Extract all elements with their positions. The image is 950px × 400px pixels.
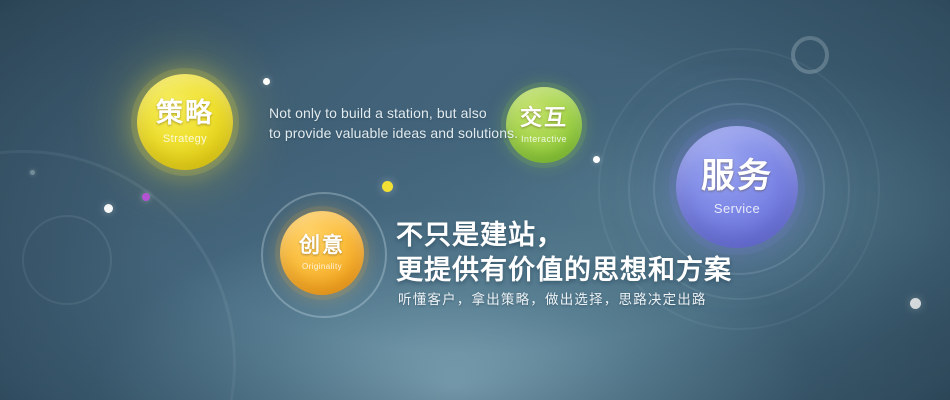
bubble-strategy-cn-label: 策略 bbox=[156, 100, 214, 127]
intro-paragraph: Not only to build a station, but also to… bbox=[269, 103, 518, 144]
intro-line-1: Not only to build a station, but also bbox=[269, 103, 518, 123]
bubble-interactive-cn-label: 交互 bbox=[520, 107, 568, 129]
bubble-strategy-en-label: Strategy bbox=[163, 134, 207, 145]
page-title: 不只是建站， 更提供有价值的思想和方案 bbox=[396, 218, 732, 287]
bubble-service-cn-label: 服务 bbox=[701, 159, 773, 193]
bubble-service-en-label: Service bbox=[714, 202, 760, 215]
bubble-strategy[interactable]: 策略 Strategy bbox=[137, 74, 233, 170]
bubble-interactive-en-label: Interactive bbox=[521, 135, 567, 144]
bubble-originality-cn-label: 创意 bbox=[299, 235, 345, 256]
background-vignette bbox=[0, 0, 950, 400]
bubble-originality-en-label: Originality bbox=[302, 263, 342, 271]
bubble-originality[interactable]: 创意 Originality bbox=[280, 211, 364, 295]
hero-banner: 策略 Strategy 交互 Interactive 创意 Originalit… bbox=[0, 0, 950, 400]
subtitle: 听懂客户，拿出策略，做出选择，思路决定出路 bbox=[398, 288, 707, 308]
intro-line-2: to provide valuable ideas and solutions. bbox=[269, 123, 518, 143]
headline-line-1: 不只是建站， bbox=[396, 218, 732, 253]
headline-line-2: 更提供有价值的思想和方案 bbox=[396, 253, 732, 288]
